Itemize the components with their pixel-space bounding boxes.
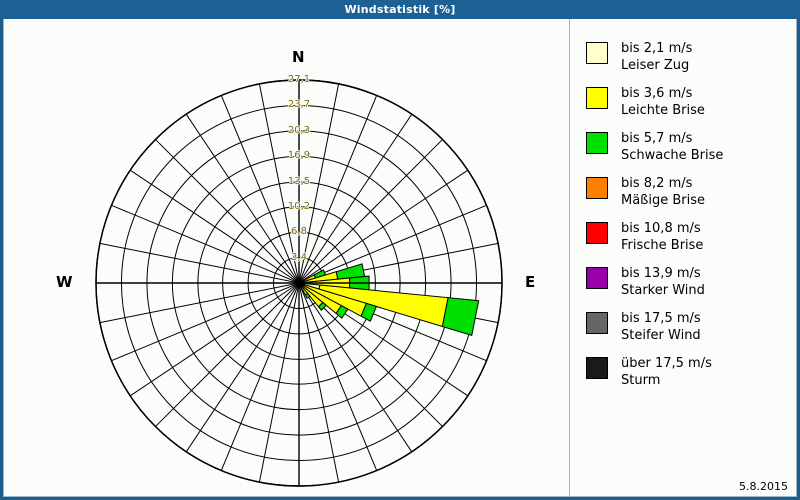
legend-swatch [586,87,608,109]
radial-tick-label: 27,1 [288,74,310,85]
legend-name-label: Frische Brise [621,237,703,254]
legend-name-label: Sturm [621,372,712,389]
legend-speed-label: bis 5,7 m/s [621,130,723,147]
legend-speed-label: bis 3,6 m/s [621,85,705,102]
legend-panel: bis 2,1 m/sLeiser Zugbis 3,6 m/sLeichte … [569,19,797,497]
window-titlebar: Windstatistik [%] [0,0,800,19]
legend-swatch [586,222,608,244]
legend-text: bis 3,6 m/sLeichte Brise [621,85,705,119]
legend-speed-label: bis 17,5 m/s [621,310,701,327]
legend-name-label: Schwache Brise [621,147,723,164]
legend-item: bis 13,9 m/sStarker Wind [586,265,796,301]
legend-swatch [586,132,608,154]
legend-name-label: Leiser Zug [621,57,692,74]
radial-tick-label: 10,2 [288,201,310,212]
compass-label-east: E [525,273,535,291]
legend-name-label: Starker Wind [621,282,705,299]
legend-name-label: Mäßige Brise [621,192,705,209]
legend-speed-label: bis 8,2 m/s [621,175,705,192]
legend-speed-label: bis 2,1 m/s [621,40,692,57]
footer-date: 5.8.2015 [739,480,788,493]
legend-text: bis 8,2 m/sMäßige Brise [621,175,705,209]
legend-list: bis 2,1 m/sLeiser Zugbis 3,6 m/sLeichte … [586,40,796,400]
legend-item: bis 2,1 m/sLeiser Zug [586,40,796,76]
windrose-svg [4,19,569,497]
legend-text: bis 2,1 m/sLeiser Zug [621,40,692,74]
wind-statistics-window: Windstatistik [%] 3,46,810,213,516,920,3… [0,0,800,500]
legend-text: bis 13,9 m/sStarker Wind [621,265,705,299]
radial-tick-label: 16,9 [288,150,310,161]
legend-name-label: Leichte Brise [621,102,705,119]
legend-item: über 17,5 m/sSturm [586,355,796,391]
radial-tick-label: 13,5 [288,176,310,187]
legend-speed-label: über 17,5 m/s [621,355,712,372]
windrose-plot: 3,46,810,213,516,920,323,727,1 [4,19,569,497]
legend-swatch [586,267,608,289]
legend-item: bis 3,6 m/sLeichte Brise [586,85,796,121]
legend-swatch [586,357,608,379]
radial-tick-label: 6,8 [291,226,307,237]
compass-label-north: N [292,48,305,66]
legend-item: bis 8,2 m/sMäßige Brise [586,175,796,211]
legend-item: bis 10,8 m/sFrische Brise [586,220,796,256]
legend-speed-label: bis 10,8 m/s [621,220,703,237]
legend-text: über 17,5 m/sSturm [621,355,712,389]
legend-swatch [586,42,608,64]
legend-item: bis 5,7 m/sSchwache Brise [586,130,796,166]
window-title: Windstatistik [%] [344,3,455,16]
legend-item: bis 17,5 m/sSteifer Wind [586,310,796,346]
legend-text: bis 5,7 m/sSchwache Brise [621,130,723,164]
window-content: 3,46,810,213,516,920,323,727,1 N S W E b… [3,19,797,497]
legend-speed-label: bis 13,9 m/s [621,265,705,282]
legend-swatch [586,177,608,199]
legend-text: bis 17,5 m/sSteifer Wind [621,310,701,344]
legend-name-label: Steifer Wind [621,327,701,344]
compass-label-west: W [56,273,73,291]
legend-text: bis 10,8 m/sFrische Brise [621,220,703,254]
windrose-chart: 3,46,810,213,516,920,323,727,1 N S W E [4,19,569,497]
radial-tick-label: 3,4 [291,252,307,263]
legend-swatch [586,312,608,334]
radial-tick-label: 20,3 [288,125,310,136]
radial-tick-label: 23,7 [288,99,310,110]
